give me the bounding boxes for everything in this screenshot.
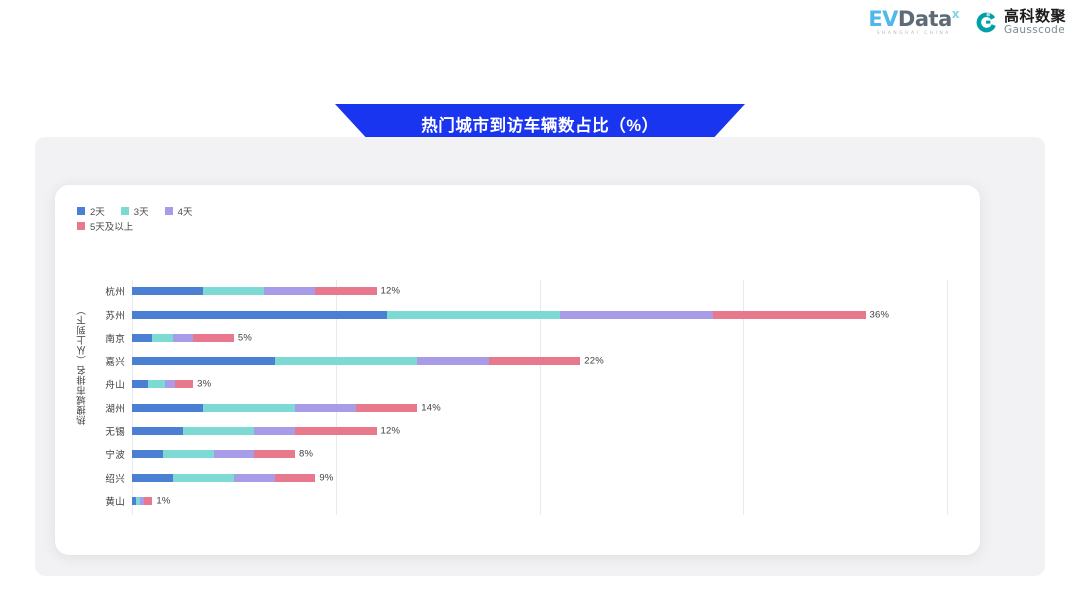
y-axis-tick-label: 舟山 [105, 377, 125, 391]
bar-segment-5天及以上[interactable] [144, 497, 152, 505]
bar-value-label: 12% [381, 286, 401, 297]
bar-segment-4天[interactable] [264, 287, 315, 295]
bar-segment-2天[interactable] [132, 474, 173, 482]
evdata-logo-primary: EV [868, 9, 898, 30]
evdata-logo-subtitle: SHANGHAI CHINA [877, 32, 951, 37]
bar-segment-2天[interactable] [132, 380, 148, 388]
gausscode-mark-icon [975, 11, 998, 34]
bar-row[interactable]: 绍兴9% [132, 466, 947, 489]
bar-segment-5天及以上[interactable] [315, 287, 376, 295]
page-header: EVDatax SHANGHAI CHINA 高科数聚 Gausscode [0, 0, 1080, 56]
evdata-logo: EVDatax SHANGHAI CHINA [868, 9, 959, 37]
stacked-bar[interactable] [132, 334, 234, 342]
bar-segment-5天及以上[interactable] [275, 474, 316, 482]
bar-segment-5天及以上[interactable] [356, 404, 417, 412]
stacked-bar[interactable] [132, 380, 193, 388]
stacked-bar[interactable] [132, 427, 377, 435]
bar-segment-4天[interactable] [173, 334, 193, 342]
stacked-bar[interactable] [132, 287, 377, 295]
gridline [947, 280, 948, 515]
bar-row[interactable]: 南京5% [132, 327, 947, 350]
bar-value-label: 5% [238, 332, 252, 343]
bar-row[interactable]: 黄山1% [132, 490, 947, 513]
y-axis-title: 热搜城市排名（从上到下） [76, 305, 92, 425]
stacked-bar-chart: 热搜城市排名（从上到下） 杭州12%苏州36%南京5%嘉兴22%舟山3%湖州14… [55, 185, 980, 555]
stacked-bar[interactable] [132, 404, 417, 412]
bar-segment-3天[interactable] [203, 404, 295, 412]
gausscode-logo: 高科数聚 Gausscode [975, 9, 1066, 36]
bar-segment-5天及以上[interactable] [193, 334, 234, 342]
bar-segment-3天[interactable] [152, 334, 172, 342]
stacked-bar[interactable] [132, 311, 866, 319]
bar-segment-5天及以上[interactable] [175, 380, 193, 388]
bar-segment-4天[interactable] [234, 474, 275, 482]
bar-segment-5天及以上[interactable] [295, 427, 377, 435]
bar-segment-4天[interactable] [417, 357, 488, 365]
bar-segment-2天[interactable] [132, 357, 275, 365]
bar-segment-4天[interactable] [214, 450, 255, 458]
bar-row[interactable]: 宁波8% [132, 443, 947, 466]
bar-segment-2天[interactable] [132, 334, 152, 342]
bar-segment-2天[interactable] [132, 311, 387, 319]
chart-card: 2天3天4天5天及以上 热搜城市排名（从上到下） 杭州12%苏州36%南京5%嘉… [55, 185, 980, 555]
y-axis-tick-label: 湖州 [105, 401, 125, 415]
bar-value-label: 14% [421, 402, 441, 413]
bar-segment-4天[interactable] [560, 311, 713, 319]
bar-row[interactable]: 苏州36% [132, 303, 947, 326]
bar-segment-3天[interactable] [183, 427, 254, 435]
y-axis-tick-label: 无锡 [105, 424, 125, 438]
evdata-x-icon: x [952, 8, 959, 20]
bar-segment-4天[interactable] [165, 380, 175, 388]
evdata-wordmark: EVDatax [868, 9, 959, 30]
plot-area: 杭州12%苏州36%南京5%嘉兴22%舟山3%湖州14%无锡12%宁波8%绍兴9… [132, 280, 947, 515]
evdata-logo-secondary: Data [898, 9, 952, 30]
stacked-bar[interactable] [132, 357, 580, 365]
bar-value-label: 9% [319, 472, 333, 483]
bar-segment-4天[interactable] [254, 427, 295, 435]
y-axis-tick-label: 黄山 [105, 494, 125, 508]
bar-segment-2天[interactable] [132, 450, 163, 458]
bar-row[interactable]: 嘉兴22% [132, 350, 947, 373]
y-axis-tick-label: 嘉兴 [105, 354, 125, 368]
bar-segment-3天[interactable] [275, 357, 418, 365]
gausscode-logo-cn: 高科数聚 [1004, 9, 1066, 25]
stacked-bar[interactable] [132, 474, 315, 482]
bar-value-label: 3% [197, 379, 211, 390]
bar-row[interactable]: 无锡12% [132, 420, 947, 443]
y-axis-tick-label: 宁波 [105, 447, 125, 461]
y-axis-tick-label: 南京 [105, 331, 125, 345]
bar-segment-2天[interactable] [132, 287, 203, 295]
bar-value-label: 1% [156, 495, 170, 506]
bar-segment-2天[interactable] [132, 404, 203, 412]
bar-value-label: 12% [381, 426, 401, 437]
y-axis-tick-label: 绍兴 [105, 471, 125, 485]
bar-segment-3天[interactable] [163, 450, 214, 458]
stacked-bar[interactable] [132, 497, 152, 505]
bar-segment-5天及以上[interactable] [489, 357, 581, 365]
bar-segment-3天[interactable] [173, 474, 234, 482]
stacked-bar[interactable] [132, 450, 295, 458]
y-axis-tick-label: 杭州 [105, 284, 125, 298]
bar-segment-5天及以上[interactable] [713, 311, 866, 319]
bar-row[interactable]: 湖州14% [132, 397, 947, 420]
bar-segment-3天[interactable] [203, 287, 264, 295]
logo-group: EVDatax SHANGHAI CHINA 高科数聚 Gausscode [868, 9, 1066, 37]
bar-row[interactable]: 杭州12% [132, 280, 947, 303]
bar-segment-5天及以上[interactable] [254, 450, 295, 458]
bar-value-label: 36% [870, 309, 890, 320]
bar-segment-3天[interactable] [148, 380, 164, 388]
bar-rows: 杭州12%苏州36%南京5%嘉兴22%舟山3%湖州14%无锡12%宁波8%绍兴9… [132, 280, 947, 515]
page-title: 热门城市到访车辆数占比（%） [421, 112, 659, 136]
bar-value-label: 22% [584, 356, 604, 367]
bar-segment-2天[interactable] [132, 427, 183, 435]
y-axis-tick-label: 苏州 [105, 308, 125, 322]
gausscode-text: 高科数聚 Gausscode [1004, 9, 1066, 36]
bar-row[interactable]: 舟山3% [132, 373, 947, 396]
bar-value-label: 8% [299, 449, 313, 460]
gausscode-logo-en: Gausscode [1004, 25, 1066, 36]
bar-segment-3天[interactable] [387, 311, 560, 319]
bar-segment-4天[interactable] [295, 404, 356, 412]
